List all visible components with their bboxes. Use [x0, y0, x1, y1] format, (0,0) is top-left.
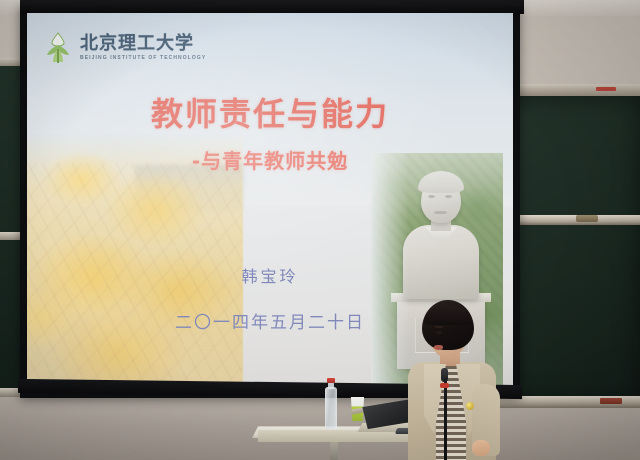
podium-leg: [330, 442, 338, 460]
slide-subtitle: -与青年教师共勉: [27, 145, 513, 174]
screen-roller-bar: [20, 0, 524, 14]
microphone-stand[interactable]: [444, 378, 447, 460]
logo-text: 北京理工大学 BEIJING INSTITUTE OF TECHNOLOGY: [80, 35, 206, 61]
board-handle[interactable]: [576, 215, 598, 222]
presenter-brooch: [466, 402, 474, 410]
presenter-eyebrow: [435, 326, 443, 328]
presenter-mouth: [434, 345, 443, 350]
presenter-eye: [436, 331, 442, 334]
water-bottle[interactable]: [325, 387, 337, 429]
chalkboard-eraser[interactable]: [600, 398, 622, 404]
slide-title: 教师责任与能力: [27, 89, 513, 135]
logo-english-name: BEIJING INSTITUTE OF TECHNOLOGY: [80, 56, 206, 61]
chalk-marker: [596, 87, 616, 91]
university-logo: 北京理工大学 BEIJING INSTITUTE OF TECHNOLOGY: [43, 31, 206, 65]
microphone-indicator: [440, 383, 449, 388]
lecture-photo-scene: 北京理工大学 BEIJING INSTITUTE OF TECHNOLOGY 教…: [0, 0, 640, 460]
presenter: [396, 300, 508, 460]
water-bottle-cap[interactable]: [327, 378, 335, 383]
presenter-hand: [472, 440, 490, 456]
slide-presenter-name: 韩宝玲: [27, 263, 513, 287]
bit-emblem-icon: [43, 31, 73, 65]
logo-chinese-name: 北京理工大学: [80, 35, 206, 53]
